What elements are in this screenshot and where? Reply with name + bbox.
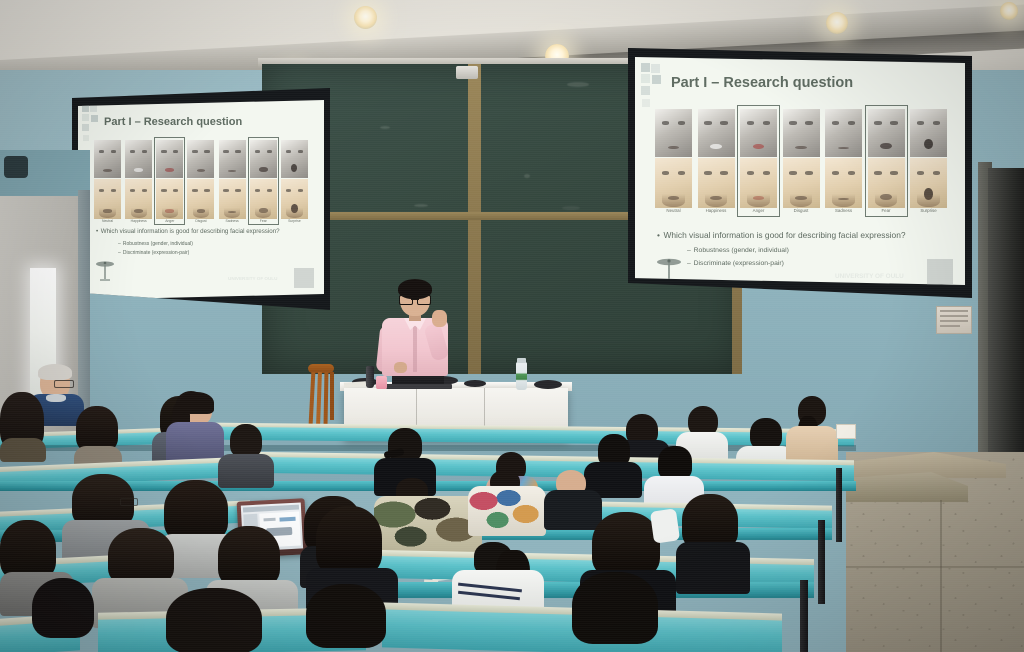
slide-corner-logo-icon [294, 268, 314, 288]
bullet-marker: • [96, 228, 98, 237]
slide-sub-bullet: Discriminate (expression-pair) [694, 259, 784, 269]
synthetic-face [655, 158, 692, 208]
laptop-ui-shape [263, 518, 275, 522]
chalk-mark [414, 204, 428, 207]
expression-label: Disgust [187, 219, 214, 223]
chalk-mark [524, 174, 530, 178]
oulu-bird-logo-icon [655, 255, 683, 285]
person-head [32, 578, 94, 638]
projector-mount [456, 66, 478, 79]
photo-face [655, 109, 692, 157]
projection-screen-right-frame: Part I – Research question Neutral Happi… [628, 48, 972, 298]
expression-column: Surprise [910, 109, 947, 213]
wall-speaker-icon [4, 156, 28, 178]
synthetic-face [156, 179, 183, 219]
glasses-icon [399, 295, 431, 303]
expression-column: Happiness [125, 140, 152, 223]
person-hair [0, 520, 56, 580]
slide-right-title: Part I – Research question [671, 75, 853, 91]
presenter[interactable] [378, 282, 452, 390]
person-head [658, 446, 692, 480]
person-hair [592, 512, 660, 578]
slide-sub-bullet: Discriminate (expression-pair) [123, 250, 189, 258]
water-bottle[interactable] [516, 362, 527, 390]
synthetic-face [281, 179, 308, 219]
downlight-icon [354, 6, 377, 29]
synthetic-face [187, 179, 214, 219]
audience-person [468, 470, 546, 534]
presenter-gesturing-hand [432, 310, 447, 327]
photo-face [910, 109, 947, 157]
bottle-cap [517, 358, 526, 363]
laptop-ui-shape [279, 517, 295, 522]
synthetic-face [783, 158, 820, 208]
photo-face [187, 140, 214, 178]
synthetic-face [219, 179, 246, 219]
person-head [230, 424, 262, 458]
expression-column: Sadness [219, 140, 246, 223]
audience-person [296, 584, 404, 652]
dash-marker: – [687, 259, 691, 269]
slide-corner-logo-icon [927, 259, 953, 285]
photo-face [125, 140, 152, 178]
downlight-icon [826, 12, 848, 34]
expression-label: Disgust [783, 208, 820, 213]
slide-right-face-grid: Neutral Happiness Anger Disgust [655, 109, 947, 213]
downlight-icon [1000, 2, 1018, 20]
expression-label: Sadness [219, 219, 246, 223]
slide-brand-text: UNIVERSITY OF OULU [228, 276, 277, 281]
expression-column: Happiness [698, 109, 735, 213]
photo-face [698, 109, 735, 157]
chalk-mark [567, 82, 589, 87]
glasses-icon [120, 498, 138, 506]
glasses-icon [54, 380, 74, 388]
thermos-bottle[interactable] [366, 366, 374, 388]
shirt-placket [413, 326, 417, 372]
slide-right[interactable]: Part I – Research question Neutral Happi… [635, 57, 965, 285]
photo-face [250, 140, 277, 178]
slide-sub-bullet: Robustness (gender, individual) [123, 241, 193, 249]
audience-person [736, 560, 796, 652]
synthetic-face [125, 179, 152, 219]
person-hair [38, 364, 72, 380]
bullet-marker: • [657, 229, 660, 241]
synthetic-face [740, 158, 777, 208]
photo-face [156, 140, 183, 178]
photo-face [740, 109, 777, 157]
dash-marker: – [118, 241, 121, 249]
expression-label: Happiness [125, 219, 152, 223]
photo-face [825, 109, 862, 157]
expression-label: Neutral [655, 208, 692, 213]
slide-left-face-grid: Neutral Happiness Anger Disgust [94, 140, 308, 223]
photo-face [219, 140, 246, 178]
expression-column: Neutral [655, 109, 692, 213]
expression-label: Neutral [94, 219, 121, 223]
slide-brand-text: UNIVERSITY OF OULU [835, 273, 904, 280]
projection-screen-left-frame: Part I – Research question Neutral Happi… [72, 88, 330, 310]
cable-bundle [534, 380, 562, 389]
expression-label: Sadness [825, 208, 862, 213]
desk-name-card [836, 424, 856, 439]
synthetic-face [910, 158, 947, 208]
person-hair [316, 506, 382, 576]
photo-face [783, 109, 820, 157]
slide-question-text: Which visual information is good for des… [101, 228, 280, 237]
synthetic-face [825, 158, 862, 208]
expression-label: Surprise [910, 208, 947, 213]
expression-column-highlighted: Fear [250, 140, 277, 223]
chalk-mark [380, 126, 390, 129]
cable-bundle [464, 380, 486, 387]
synthetic-face [94, 179, 121, 219]
expression-column: Sadness [825, 109, 862, 213]
photo-face [281, 140, 308, 178]
slide-question-text: Which visual information is good for des… [663, 229, 905, 241]
expression-column: Disgust [187, 140, 214, 223]
person-hair [218, 526, 280, 588]
slide-right-bullets: • Which visual information is good for d… [657, 229, 949, 270]
audience-person [218, 424, 274, 486]
oulu-bird-logo-icon [94, 258, 116, 284]
photo-face [94, 140, 121, 178]
synthetic-face [868, 158, 905, 208]
wall-notice-card [936, 306, 972, 334]
expression-column-highlighted: Anger [156, 140, 183, 223]
photo-face [868, 109, 905, 157]
expression-label: Surprise [281, 219, 308, 223]
expression-column: Disgust [783, 109, 820, 213]
person-torso-floral [468, 486, 546, 536]
chalk-eraser-ledge [562, 206, 580, 210]
person-collar [46, 394, 66, 402]
presenter-resting-hand [394, 362, 407, 373]
audience-person [556, 572, 674, 652]
dash-marker: – [687, 246, 691, 256]
expression-column: Surprise [281, 140, 308, 223]
synthetic-face [250, 179, 277, 219]
slide-left-title: Part I – Research question [104, 116, 242, 128]
audience-person [154, 588, 284, 652]
expression-column-highlighted: Anger [740, 109, 777, 213]
slide-sub-bullet: Robustness (gender, individual) [694, 246, 789, 256]
person-head [306, 584, 386, 648]
chair-slat [330, 372, 334, 420]
person-head [166, 588, 262, 652]
slide-left-bullets: • Which visual information is good for d… [96, 228, 310, 258]
lecture-hall-photo: Part I – Research question Neutral Happi… [0, 0, 1024, 652]
expression-label: Happiness [698, 208, 735, 213]
person-hair [180, 392, 214, 414]
expression-column: Neutral [94, 140, 121, 223]
slide-left[interactable]: Part I – Research question Neutral Happi… [78, 100, 324, 300]
synthetic-face [698, 158, 735, 208]
expression-column-highlighted: Fear [868, 109, 905, 213]
audience-person [10, 578, 122, 652]
person-head [572, 572, 658, 644]
dash-marker: – [118, 250, 121, 258]
